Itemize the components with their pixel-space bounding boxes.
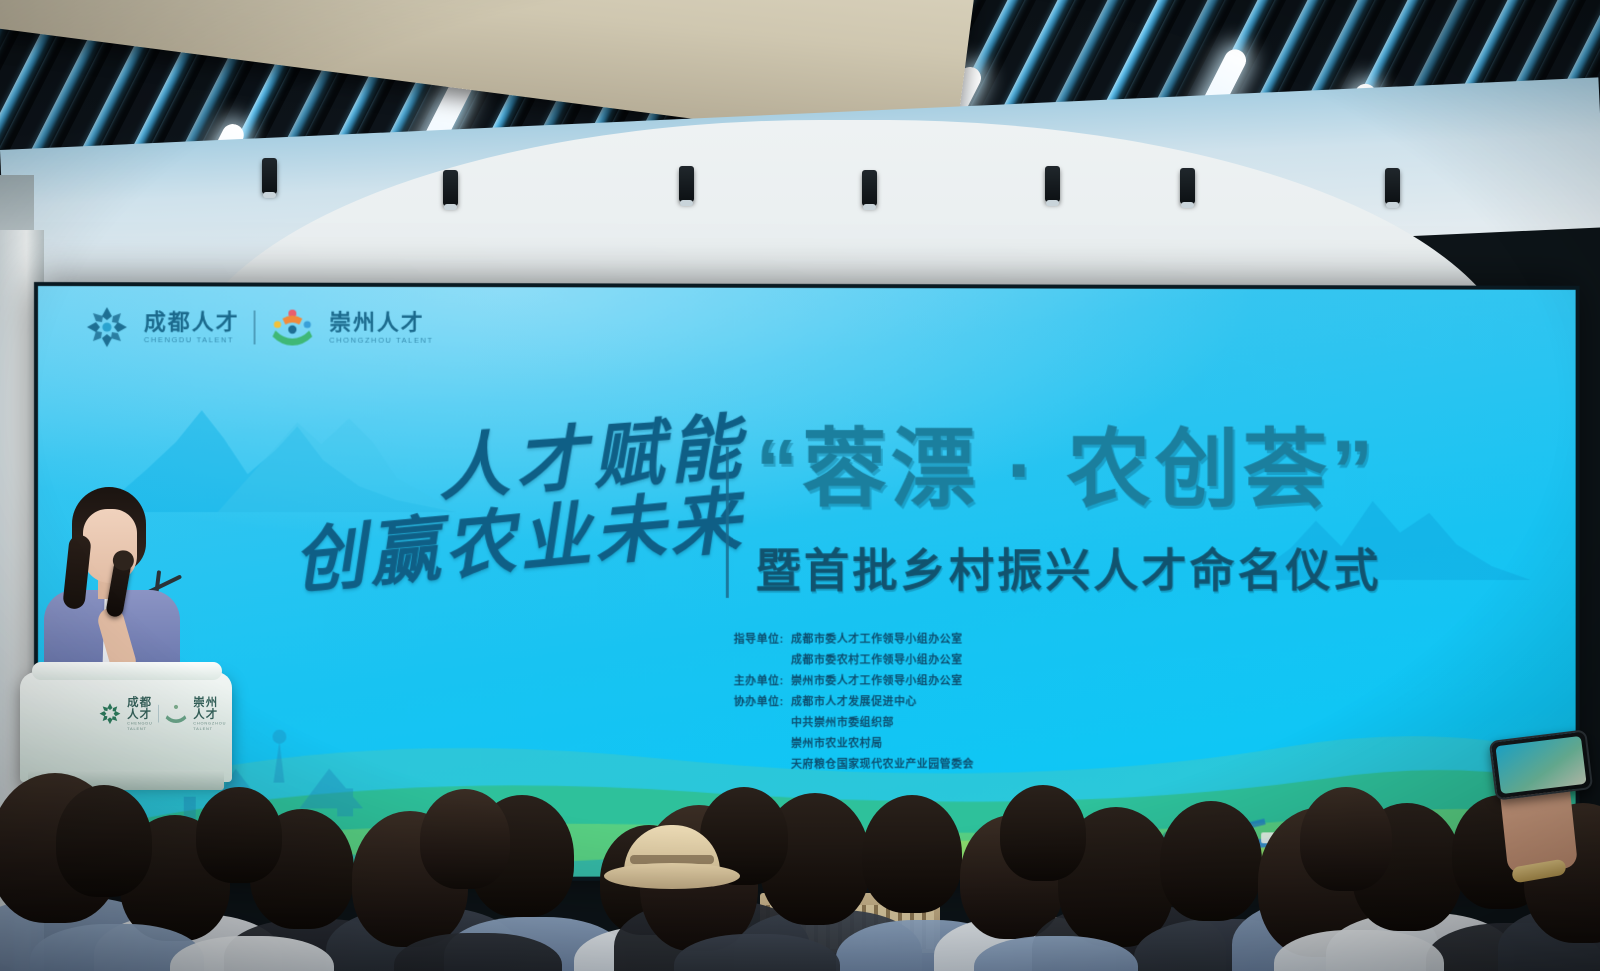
spotlight-5 [1045,166,1060,202]
podium-chengdu-en: CHENGDU TALENT [127,721,153,731]
audience-head [862,795,962,913]
audience-head [420,789,510,889]
hat-brim [604,863,740,889]
audience-row [0,741,1600,971]
podium-logo-divider [158,705,159,723]
chengdu-talent-cn: 成都人才 [144,310,240,333]
smartphone-recording [1489,729,1594,800]
audience-head [1300,787,1392,891]
calligraphy-block: 人才赋能 创赢农业未来 [292,426,758,576]
phone-screen [1495,736,1586,794]
chengdu-talent-en: CHENGDU TALENT [144,335,240,345]
podium-chongzhou-wordmark: 崇州人才 CHONGZHOU TALENT [193,696,226,731]
title-block: “蓉漂 · 农创荟” 暨首批乡村振兴人才命名仪式 [755,427,1442,600]
event-main-title: “蓉漂 · 农创荟” [755,427,1442,513]
audience-head [1000,785,1086,881]
photo-scene: 成都人才 CHENGDU TALENT 崇州人才 [0,0,1600,971]
spotlight-3 [679,166,694,202]
podium-chengdu-mark-icon [98,702,122,726]
chongzhou-talent-wordmark: 崇州人才 CHONGZHOU TALENT [329,310,433,345]
spotlight-4 [862,170,877,206]
podium-top [32,662,222,680]
screen-logo-bar: 成都人才 CHENGDU TALENT 崇州人才 [84,304,434,351]
podium-logo-bar: 成都人才 CHENGDU TALENT 崇州人才 CHONGZHOU TALEN… [98,696,226,731]
chongzhou-talent-en: CHONGZHOU TALENT [329,335,433,345]
title-divider-line [726,447,729,598]
chengdu-talent-wordmark: 成都人才 CHENGDU TALENT [144,310,240,345]
podium-chengdu-wordmark: 成都人才 CHENGDU TALENT [127,696,153,731]
credit-value: 成都市委人才工作领导小组办公室 [791,630,1147,651]
spotlight-1 [262,158,277,194]
audience-head [56,785,152,897]
chongzhou-talent-mark-icon [270,305,316,351]
spotlight-2 [443,170,458,206]
audience-head [1160,801,1262,921]
podium-chongzhou-cn: 崇州人才 [193,696,226,720]
podium-chengdu-cn: 成都人才 [127,696,153,720]
spotlight-6 [1180,168,1195,204]
spotlight-7 [1385,168,1400,204]
chongzhou-talent-cn: 崇州人才 [329,310,433,333]
logo-divider [254,310,256,344]
podium-chongzhou-mark-icon [164,702,188,726]
audience-head [196,787,282,883]
chengdu-talent-mark-icon [84,304,130,350]
credit-label: 指导单位: [734,630,791,651]
event-subtitle: 暨首批乡村振兴人才命名仪式 [755,534,1442,600]
podium-chongzhou-en: CHONGZHOU TALENT [193,721,226,731]
